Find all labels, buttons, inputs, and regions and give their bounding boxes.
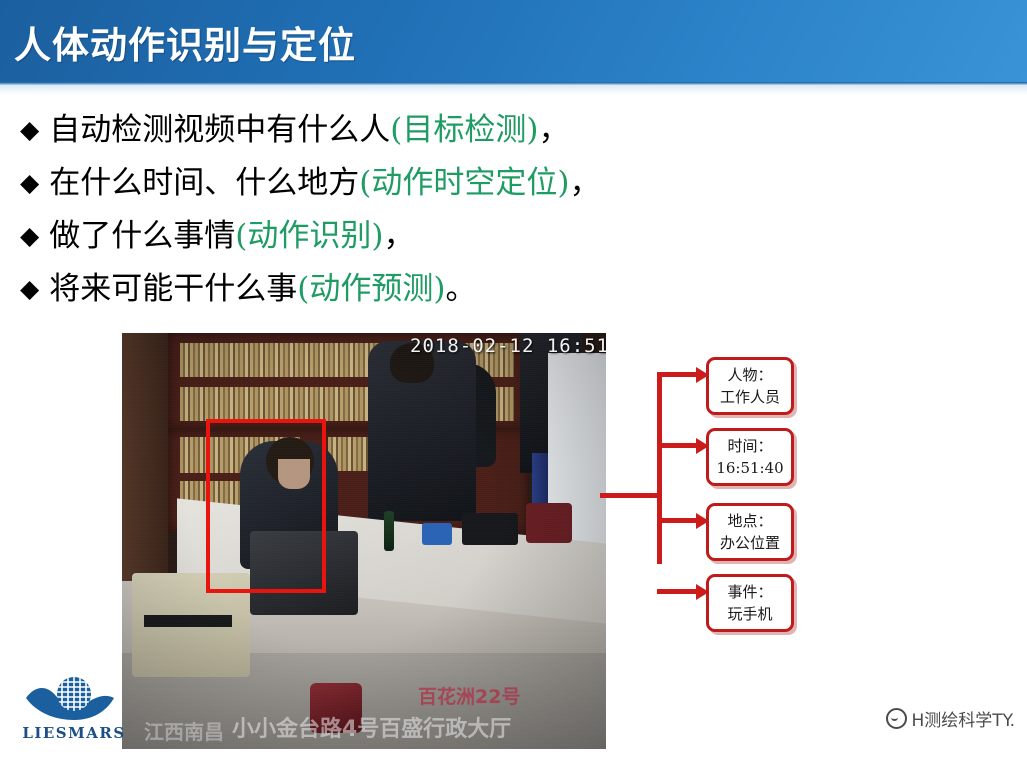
diamond-bullet-icon: ◆ [20,118,39,143]
bullet-text: 做了什么事情 [49,210,235,255]
liesmars-logo: LIESMARS [22,672,126,750]
connector-diagram [600,330,720,630]
callout-key: 时间： [727,435,772,457]
list-item: ◆ 在什么时间、什么地方 (动作时空定位) ， [20,157,720,210]
wechat-icon [886,708,907,729]
page-watermark: H测绘科学TY. [886,706,1015,731]
callout-value: 办公位置 [720,532,780,554]
bullet-tail: 。 [445,263,476,308]
liesmars-logo-mark [22,672,118,722]
callout-value: 玩手机 [727,603,772,625]
list-item: ◆ 将来可能干什么事 (动作预测) 。 [20,263,720,316]
diamond-bullet-icon: ◆ [20,224,39,249]
bullet-text: 将来可能干什么事 [49,263,297,308]
diamond-bullet-icon: ◆ [20,277,39,302]
bullet-list: ◆ 自动检测视频中有什么人 (目标检测) ， ◆ 在什么时间、什么地方 (动作时… [20,104,720,316]
callout-key: 事件： [727,581,772,603]
photo-watermark-line1: 百花洲22号 [418,682,520,709]
bullet-tag: (动作识别) [235,210,383,255]
photo-watermark-line2: 小小金台路4号百盛行政大厅 [232,711,511,743]
callout-box-event: 事件： 玩手机 [706,574,794,632]
connector-branch [657,518,697,523]
bullet-text: 自动检测视频中有什么人 [49,104,390,149]
video-timestamp: 2018-02-12 16:51:40 [410,335,606,357]
connector-branch [657,589,697,594]
bullet-tag: (动作预测) [297,263,445,308]
callout-value: 工作人员 [720,386,780,408]
connector-branch [657,372,697,377]
detection-bounding-box [206,419,326,593]
callout-box-time: 时间： 16:51:40 [706,428,794,486]
bullet-tail: ， [538,104,569,149]
page-watermark-text: H测绘科学TY. [911,706,1015,731]
callout-key: 人物： [727,364,772,386]
bullet-tail: ， [569,157,600,202]
globe-wave-icon [22,672,118,722]
connector-stem [600,493,662,498]
banner-glow [0,85,1027,95]
callout-box-person: 人物： 工作人员 [706,357,794,415]
title-banner: 人体动作识别与定位 [0,0,1027,82]
bullet-tail: ， [383,210,414,255]
callout-key: 地点： [727,510,772,532]
photo-watermark-line3: 江西南昌 [144,716,224,745]
list-item: ◆ 自动检测视频中有什么人 (目标检测) ， [20,104,720,157]
callout-box-location: 地点： 办公位置 [706,503,794,561]
diamond-bullet-icon: ◆ [20,171,39,196]
photo-scanline-noise [122,333,606,749]
list-item: ◆ 做了什么事情 (动作识别) ， [20,210,720,263]
callout-value: 16:51:40 [716,457,783,479]
page-title: 人体动作识别与定位 [14,26,356,66]
liesmars-logo-text: LIESMARS [22,724,126,742]
connector-trunk [657,372,662,564]
bullet-tag: (目标检测) [390,104,538,149]
surveillance-photo: 2018-02-12 16:51:40 百花洲22号 小小金台路4号百盛行政大厅… [122,333,606,749]
connector-branch [657,443,697,448]
bullet-text: 在什么时间、什么地方 [49,157,359,202]
bullet-tag: (动作时空定位) [359,157,569,202]
